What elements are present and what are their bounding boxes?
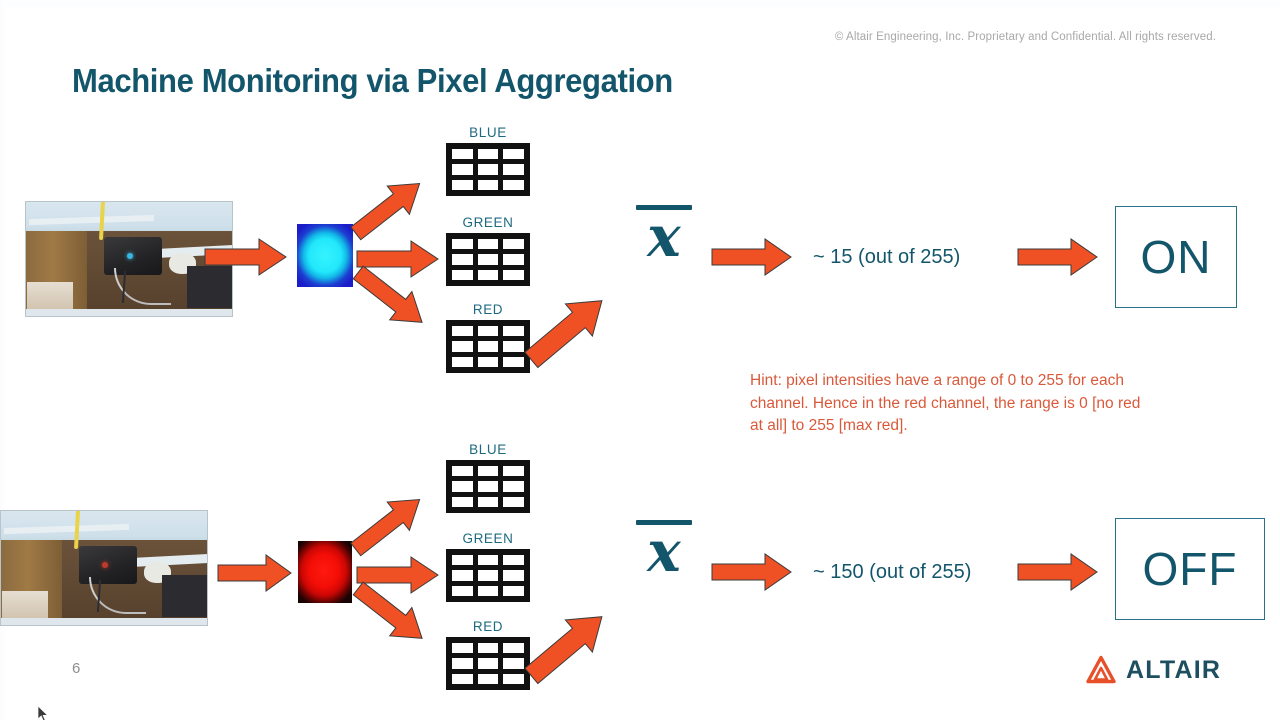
pixel-cell xyxy=(478,239,499,249)
pixel-cell xyxy=(452,239,473,249)
state-label: OFF xyxy=(1143,542,1238,596)
pixel-cell xyxy=(452,643,473,653)
pixel-cell xyxy=(478,643,499,653)
arrow-split-down-off xyxy=(357,574,439,646)
pixel-cell xyxy=(503,149,524,159)
pixel-grid xyxy=(446,637,530,690)
channel-label: RED xyxy=(446,302,530,317)
pixel-cell xyxy=(478,326,499,336)
pixel-cell xyxy=(478,149,499,159)
pixel-cell xyxy=(452,180,473,190)
arrow-photo-to-light-on xyxy=(205,238,287,276)
arrow-mean-to-value-on xyxy=(712,238,792,276)
pixel-cell xyxy=(503,497,524,507)
photo-border xyxy=(25,201,233,317)
mean-value-off: ~ 150 (out of 255) xyxy=(813,561,971,584)
pixel-cell xyxy=(503,570,524,580)
pixel-cell xyxy=(478,586,499,596)
arrow-grids-to-mean-off xyxy=(530,594,626,684)
arrow-value-to-state-off xyxy=(1018,553,1098,591)
mouse-cursor xyxy=(38,706,49,720)
pixel-cell xyxy=(452,586,473,596)
pixel-cell xyxy=(452,254,473,264)
indicator-glow-cyan xyxy=(297,224,353,287)
player-frame-top-edge xyxy=(0,0,1280,9)
pixel-grid xyxy=(446,233,530,286)
pixel-cell xyxy=(478,357,499,367)
pixel-cell xyxy=(452,149,473,159)
pixel-cell xyxy=(452,674,473,684)
channel-label: BLUE xyxy=(446,442,530,457)
pixel-cell xyxy=(478,164,499,174)
arrow-value-to-state-on xyxy=(1018,238,1098,276)
arrow-grids-to-mean-on xyxy=(530,278,626,368)
pixel-cell xyxy=(452,164,473,174)
machine-photo-on xyxy=(25,201,233,317)
arrow-split-down-on xyxy=(357,258,439,330)
pixel-cell xyxy=(503,481,524,491)
altair-triangle-icon xyxy=(1085,655,1117,685)
pixel-cell xyxy=(452,270,473,280)
pixel-cell xyxy=(503,586,524,596)
mean-symbol-off: x xyxy=(630,520,698,577)
pixel-cell xyxy=(478,254,499,264)
pixel-cell xyxy=(452,570,473,580)
machine-photo-off xyxy=(0,510,208,626)
pixel-cell xyxy=(452,466,473,476)
altair-logo: ALTAIR xyxy=(1085,655,1221,685)
pixel-cell xyxy=(503,180,524,190)
pixel-cell xyxy=(452,341,473,351)
altair-wordmark: ALTAIR xyxy=(1126,656,1221,685)
arrow-mean-to-value-off xyxy=(712,553,792,591)
pixel-cell xyxy=(503,341,524,351)
pixel-cell xyxy=(503,239,524,249)
indicator-light-red xyxy=(298,541,352,603)
slide-canvas: © Altair Engineering, Inc. Proprietary a… xyxy=(0,0,1280,720)
mean-x-glyph: x xyxy=(630,212,698,262)
indicator-glow-red xyxy=(298,541,352,603)
pixel-cell xyxy=(478,481,499,491)
mean-value-on: ~ 15 (out of 255) xyxy=(813,246,960,269)
pixel-cell xyxy=(478,570,499,580)
pixel-cell xyxy=(452,326,473,336)
pixel-cell xyxy=(503,254,524,264)
mean-symbol-on: x xyxy=(630,205,698,262)
pixel-grid xyxy=(446,320,530,373)
copyright-notice: © Altair Engineering, Inc. Proprietary a… xyxy=(835,31,1216,43)
mean-x-glyph: x xyxy=(630,527,698,577)
hint-text: Hint: pixel intensities have a range of … xyxy=(750,370,1150,438)
channel-label: GREEN xyxy=(446,531,530,546)
pixel-cell xyxy=(503,674,524,684)
pixel-cell xyxy=(503,643,524,653)
pixel-grid xyxy=(446,549,530,602)
arrow-photo-to-light-off xyxy=(218,554,292,592)
pixel-cell xyxy=(503,555,524,565)
pixel-cell xyxy=(478,658,499,668)
pixel-cell xyxy=(503,466,524,476)
state-box-on: ON xyxy=(1115,206,1237,308)
pixel-grid xyxy=(446,460,530,513)
pixel-cell xyxy=(478,497,499,507)
channel-label: BLUE xyxy=(446,125,530,140)
state-box-off: OFF xyxy=(1115,518,1265,620)
pixel-grid xyxy=(446,143,530,196)
page-title: Machine Monitoring via Pixel Aggregation xyxy=(72,62,673,100)
pixel-cell xyxy=(478,341,499,351)
pixel-cell xyxy=(452,555,473,565)
channel-label: RED xyxy=(446,619,530,634)
pixel-cell xyxy=(478,555,499,565)
pixel-cell xyxy=(478,180,499,190)
indicator-light-blue xyxy=(297,224,353,287)
pixel-cell xyxy=(452,481,473,491)
channel-label: GREEN xyxy=(446,215,530,230)
pixel-cell xyxy=(452,658,473,668)
state-label: ON xyxy=(1141,230,1212,284)
pixel-cell xyxy=(478,674,499,684)
pixel-cell xyxy=(478,270,499,280)
pixel-cell xyxy=(503,270,524,280)
pixel-cell xyxy=(503,658,524,668)
pixel-cell xyxy=(503,357,524,367)
pixel-cell xyxy=(478,466,499,476)
pixel-cell xyxy=(503,326,524,336)
photo-border xyxy=(0,510,208,626)
pixel-cell xyxy=(452,497,473,507)
page-number: 6 xyxy=(72,660,80,677)
pixel-cell xyxy=(503,164,524,174)
pixel-cell xyxy=(452,357,473,367)
